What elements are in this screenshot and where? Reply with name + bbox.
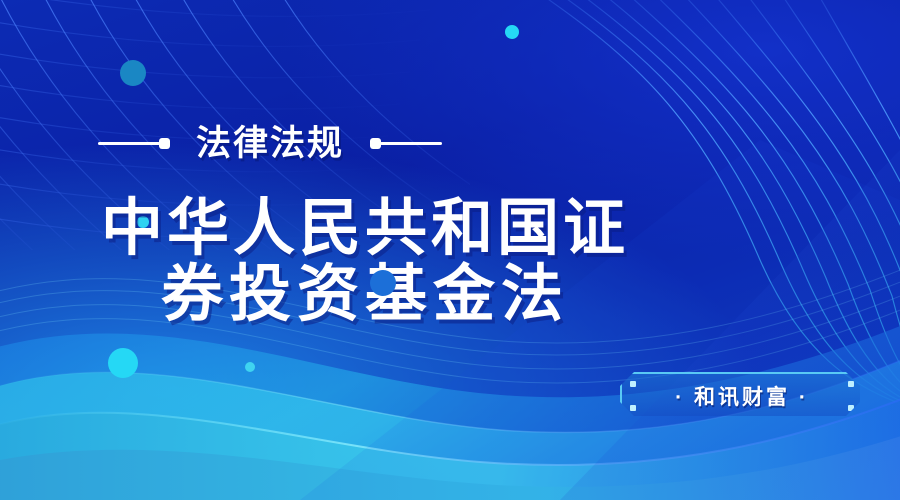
brand-badge-label: · 和讯财富 · bbox=[675, 381, 809, 411]
cyan-dot-small-right-icon bbox=[245, 362, 255, 372]
brand-badge[interactable]: · 和讯财富 · bbox=[620, 372, 864, 420]
teal-dot-top-left-icon bbox=[120, 60, 146, 86]
page-title: 中华人民共和国证 券投资基金法 bbox=[0, 196, 730, 328]
cyan-dot-bottom-left-icon bbox=[108, 348, 138, 378]
kicker-dot-left bbox=[159, 138, 170, 149]
badge-corner-top-left-icon bbox=[630, 381, 636, 387]
kicker-line-right bbox=[380, 142, 442, 145]
blue-dot-title-icon bbox=[370, 270, 396, 296]
kicker-label: 法律法规 bbox=[196, 126, 344, 161]
headline-line-1: 中华人民共和国证 bbox=[0, 196, 730, 262]
headline-line-2: 券投资基金法 bbox=[0, 262, 730, 328]
kicker-rule-right-icon bbox=[370, 138, 442, 149]
badge-corner-top-right-icon bbox=[848, 381, 854, 387]
badge-corner-bottom-left-icon bbox=[630, 405, 636, 411]
badge-corner-bottom-right-icon bbox=[848, 405, 854, 411]
banner-root: 法律法规 中华人民共和国证 券投资基金法 · 和讯财富 · bbox=[0, 0, 900, 500]
cyan-dot-top-right-icon bbox=[505, 25, 519, 39]
kicker-rule-left-icon bbox=[98, 138, 170, 149]
kicker-line-left bbox=[98, 142, 160, 145]
kicker-row: 法律法规 bbox=[0, 118, 540, 168]
